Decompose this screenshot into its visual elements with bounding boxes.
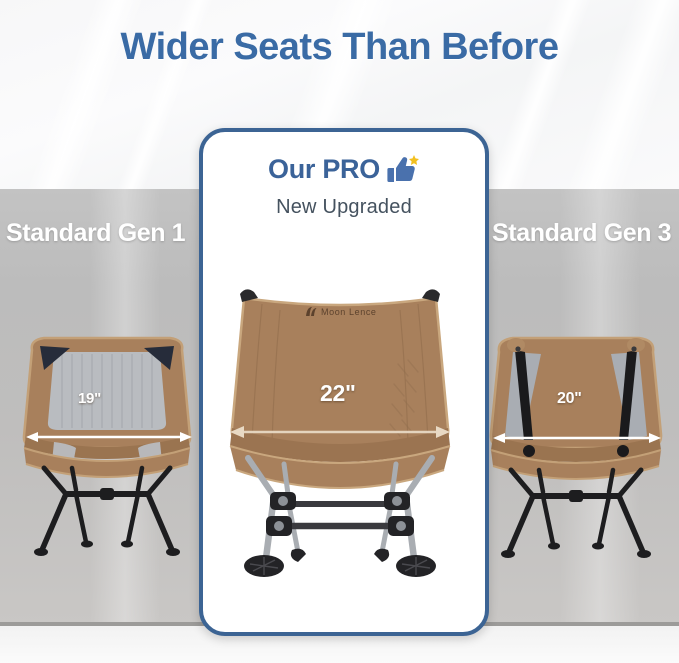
pro-header: Our PRO New Upgraded <box>203 154 485 219</box>
product-label-gen1: Standard Gen 1 <box>6 219 185 248</box>
chair-illustration-gen3 <box>483 318 669 568</box>
pro-title-text: Our PRO <box>268 154 380 185</box>
chair-illustration-pro <box>222 268 458 598</box>
page-title: Wider Seats Than Before <box>0 26 679 69</box>
pro-subtitle: New Upgraded <box>203 196 485 219</box>
comparison-infographic: Wider Seats Than Before Standard Gen 1 S… <box>0 0 679 663</box>
pro-title-row: Our PRO <box>268 154 420 185</box>
thumbs-up-icon <box>386 155 420 185</box>
product-label-gen3: Standard Gen 3 <box>492 219 671 248</box>
star-icon <box>409 155 419 165</box>
chair-illustration-gen1 <box>14 318 200 568</box>
